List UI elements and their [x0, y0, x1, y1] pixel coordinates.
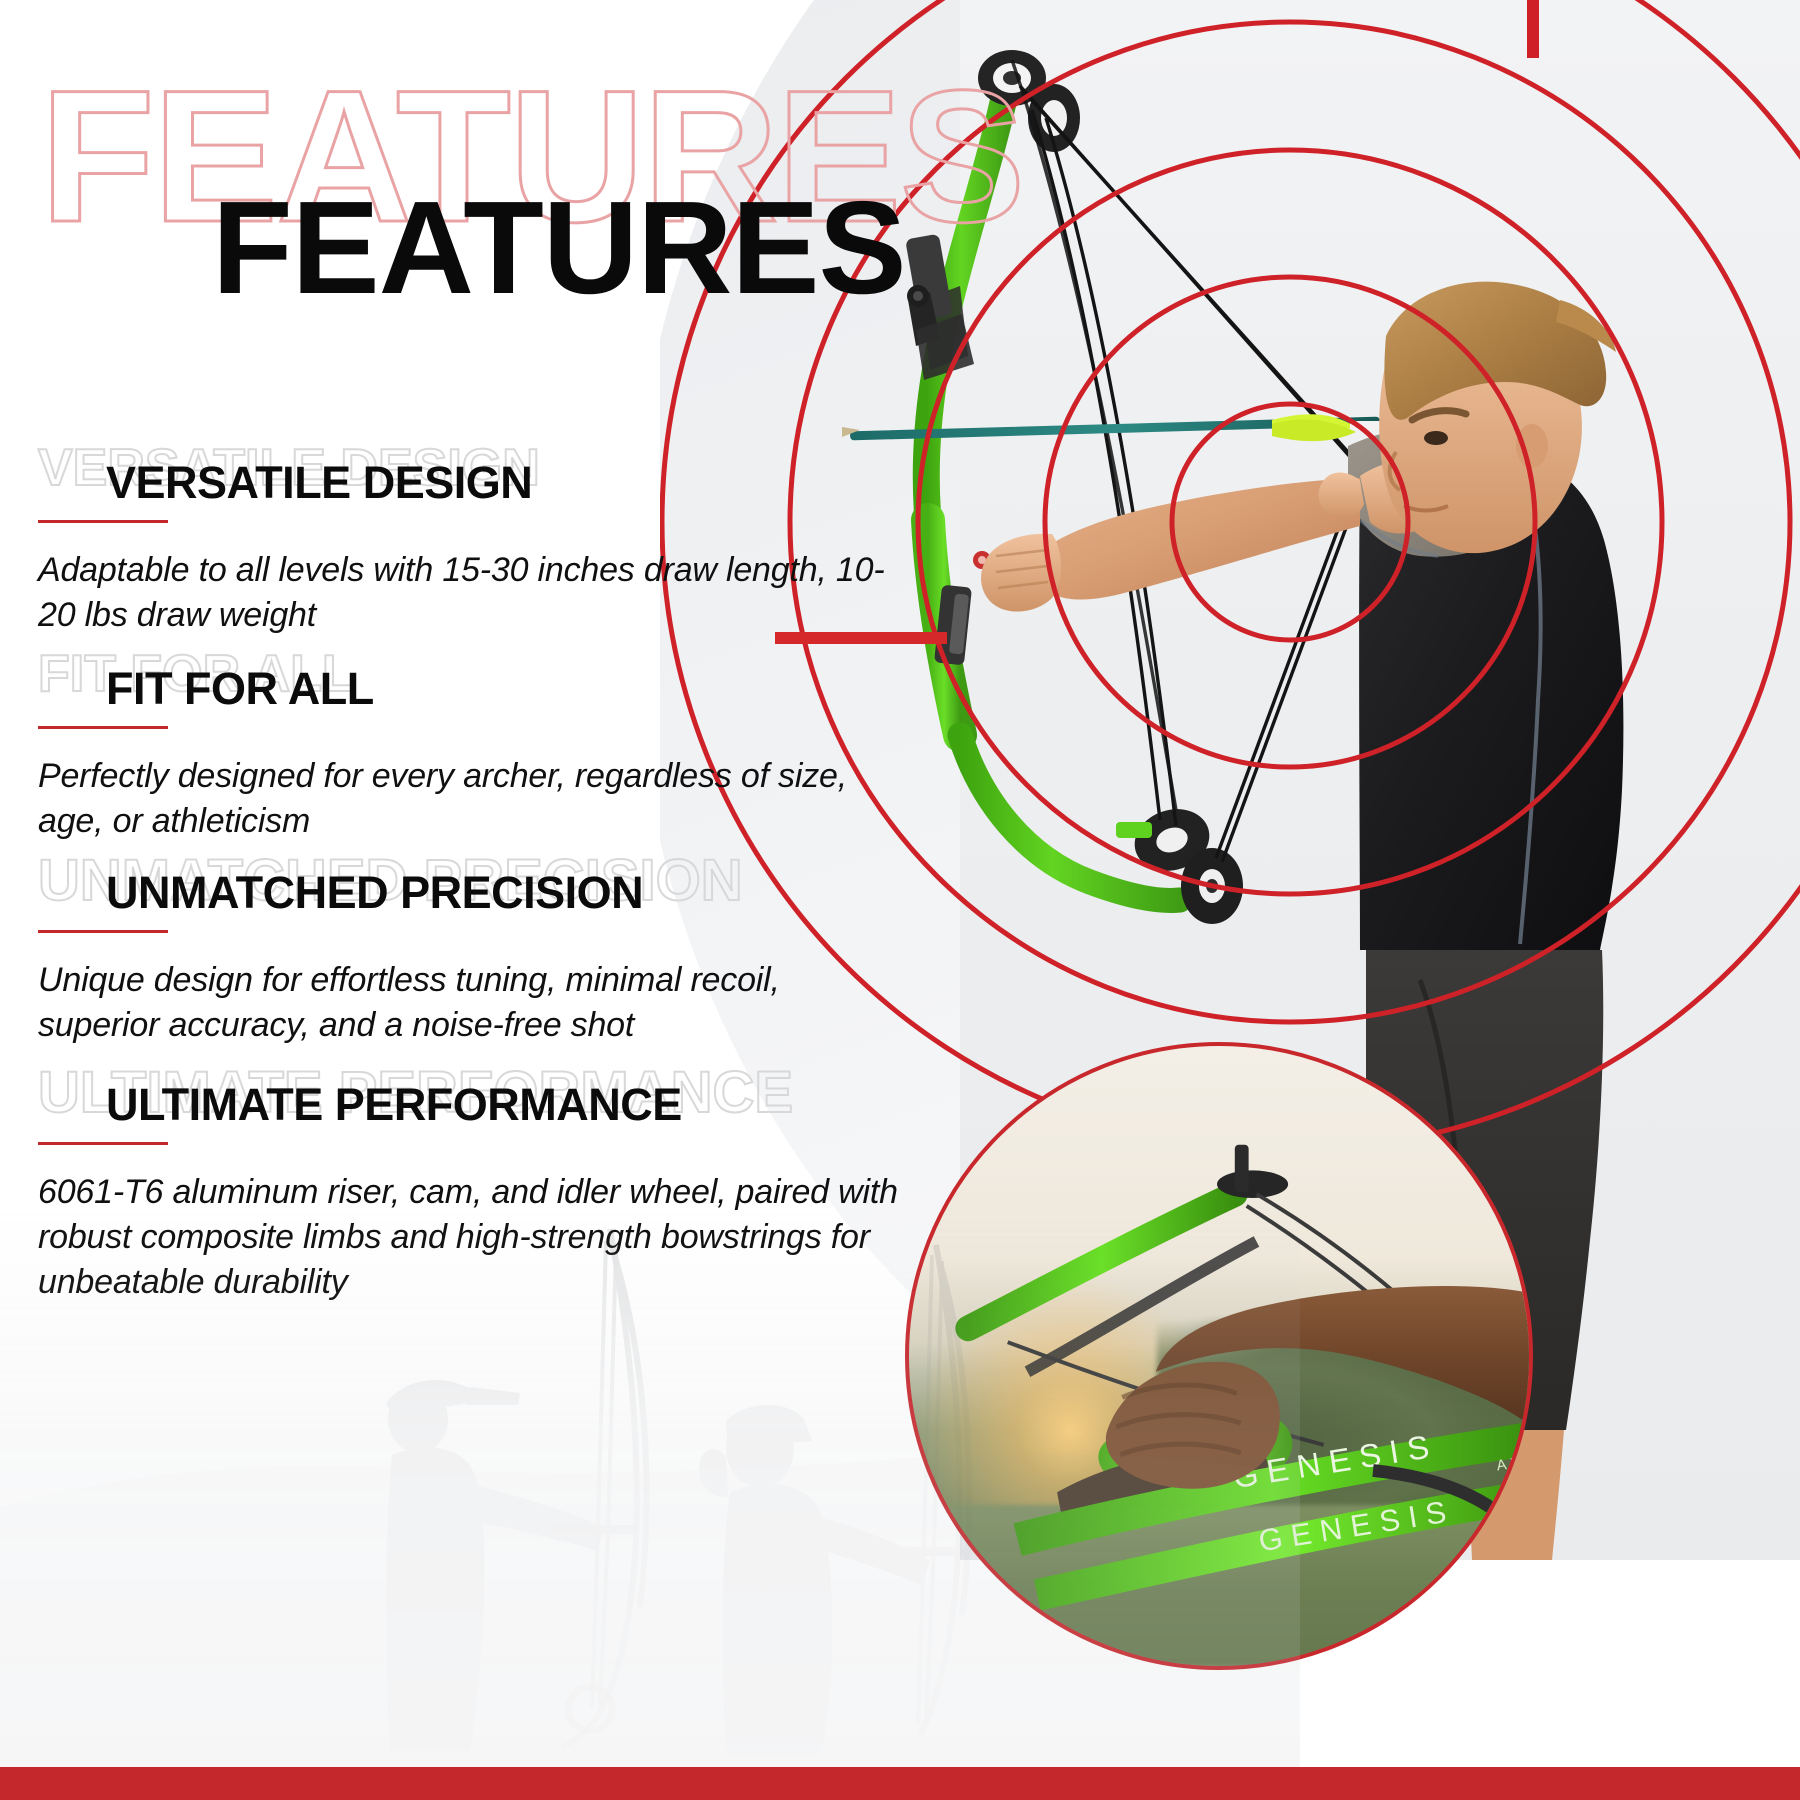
- feature-heading-block: FIT FOR ALL FIT FOR ALL: [38, 658, 898, 732]
- feature-underline: [38, 1142, 168, 1145]
- feature-underline: [38, 726, 168, 729]
- feature-body: Adaptable to all levels with 15-30 inche…: [38, 548, 898, 638]
- feature-underline: [38, 520, 168, 523]
- feature-heading-block: UNMATCHED PRECISION UNMATCHED PRECISION: [38, 862, 898, 936]
- feature-body: Perfectly designed for every archer, reg…: [38, 754, 898, 844]
- archer-silhouettes: [0, 1207, 1300, 1767]
- tick-vertical-icon: [1527, 0, 1539, 58]
- page-title-block: FEATURES FEATURES: [0, 62, 1180, 302]
- feature-item: FIT FOR ALL FIT FOR ALL Perfectly design…: [38, 658, 898, 844]
- feature-item: UNMATCHED PRECISION UNMATCHED PRECISION …: [38, 862, 898, 1048]
- silhouette-haze: [0, 1207, 1300, 1767]
- page-title: FEATURES: [212, 182, 906, 314]
- feature-heading-block: VERSATILE DESIGN VERSATILE DESIGN: [38, 452, 898, 526]
- feature-heading: ULTIMATE PERFORMANCE: [106, 1082, 682, 1127]
- feature-heading: FIT FOR ALL: [106, 666, 374, 711]
- feature-heading: VERSATILE DESIGN: [106, 460, 532, 505]
- feature-item: VERSATILE DESIGN VERSATILE DESIGN Adapta…: [38, 452, 898, 638]
- feature-poster: GENESIS GENESIS ARCHERY FEATURES FEATURE…: [0, 0, 1800, 1800]
- feature-body: Unique design for effortless tuning, min…: [38, 958, 898, 1048]
- feature-heading-block: ULTIMATE PERFORMANCE ULTIMATE PERFORMANC…: [38, 1074, 898, 1148]
- feature-underline: [38, 930, 168, 933]
- footer-red-bar: [0, 1767, 1800, 1800]
- feature-heading: UNMATCHED PRECISION: [106, 870, 643, 915]
